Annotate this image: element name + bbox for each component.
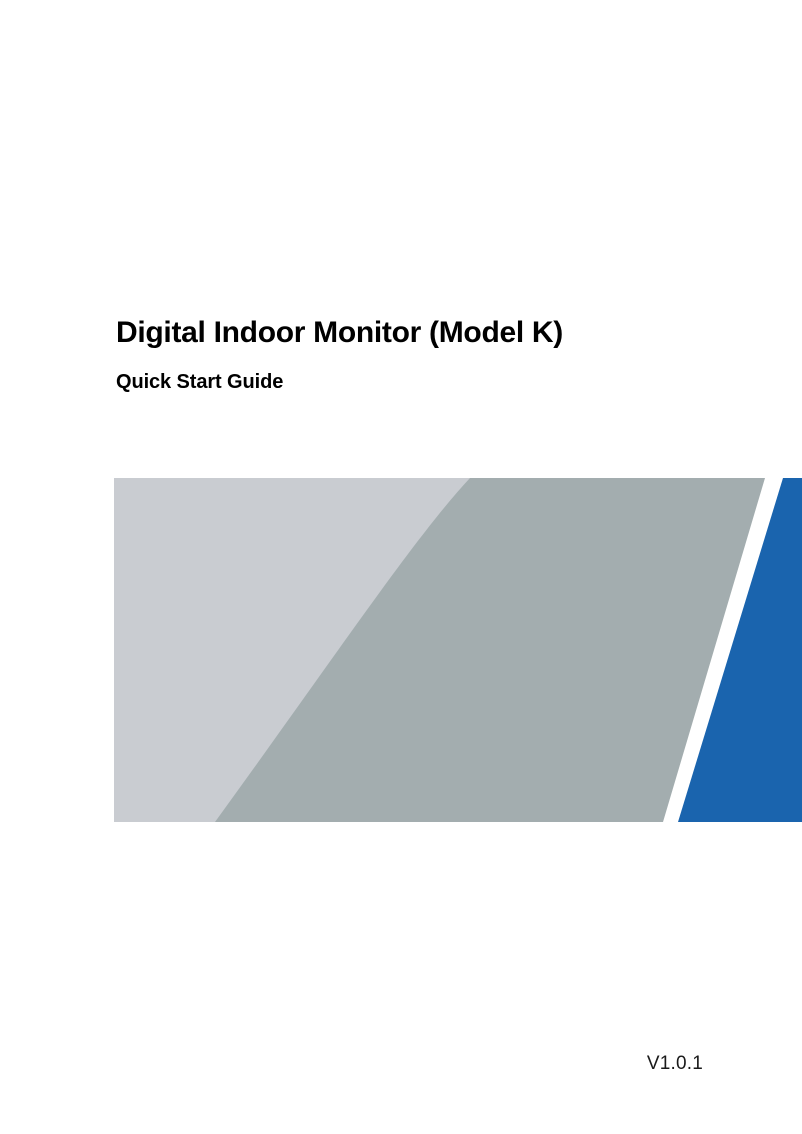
- cover-banner-graphic: [114, 478, 802, 822]
- title-block: Digital Indoor Monitor (Model K) Quick S…: [116, 313, 736, 395]
- page-subtitle: Quick Start Guide: [116, 353, 736, 395]
- version-label: V1.0.1: [0, 1052, 703, 1076]
- page-title: Digital Indoor Monitor (Model K): [116, 313, 736, 353]
- document-cover-page: Digital Indoor Monitor (Model K) Quick S…: [0, 0, 802, 1134]
